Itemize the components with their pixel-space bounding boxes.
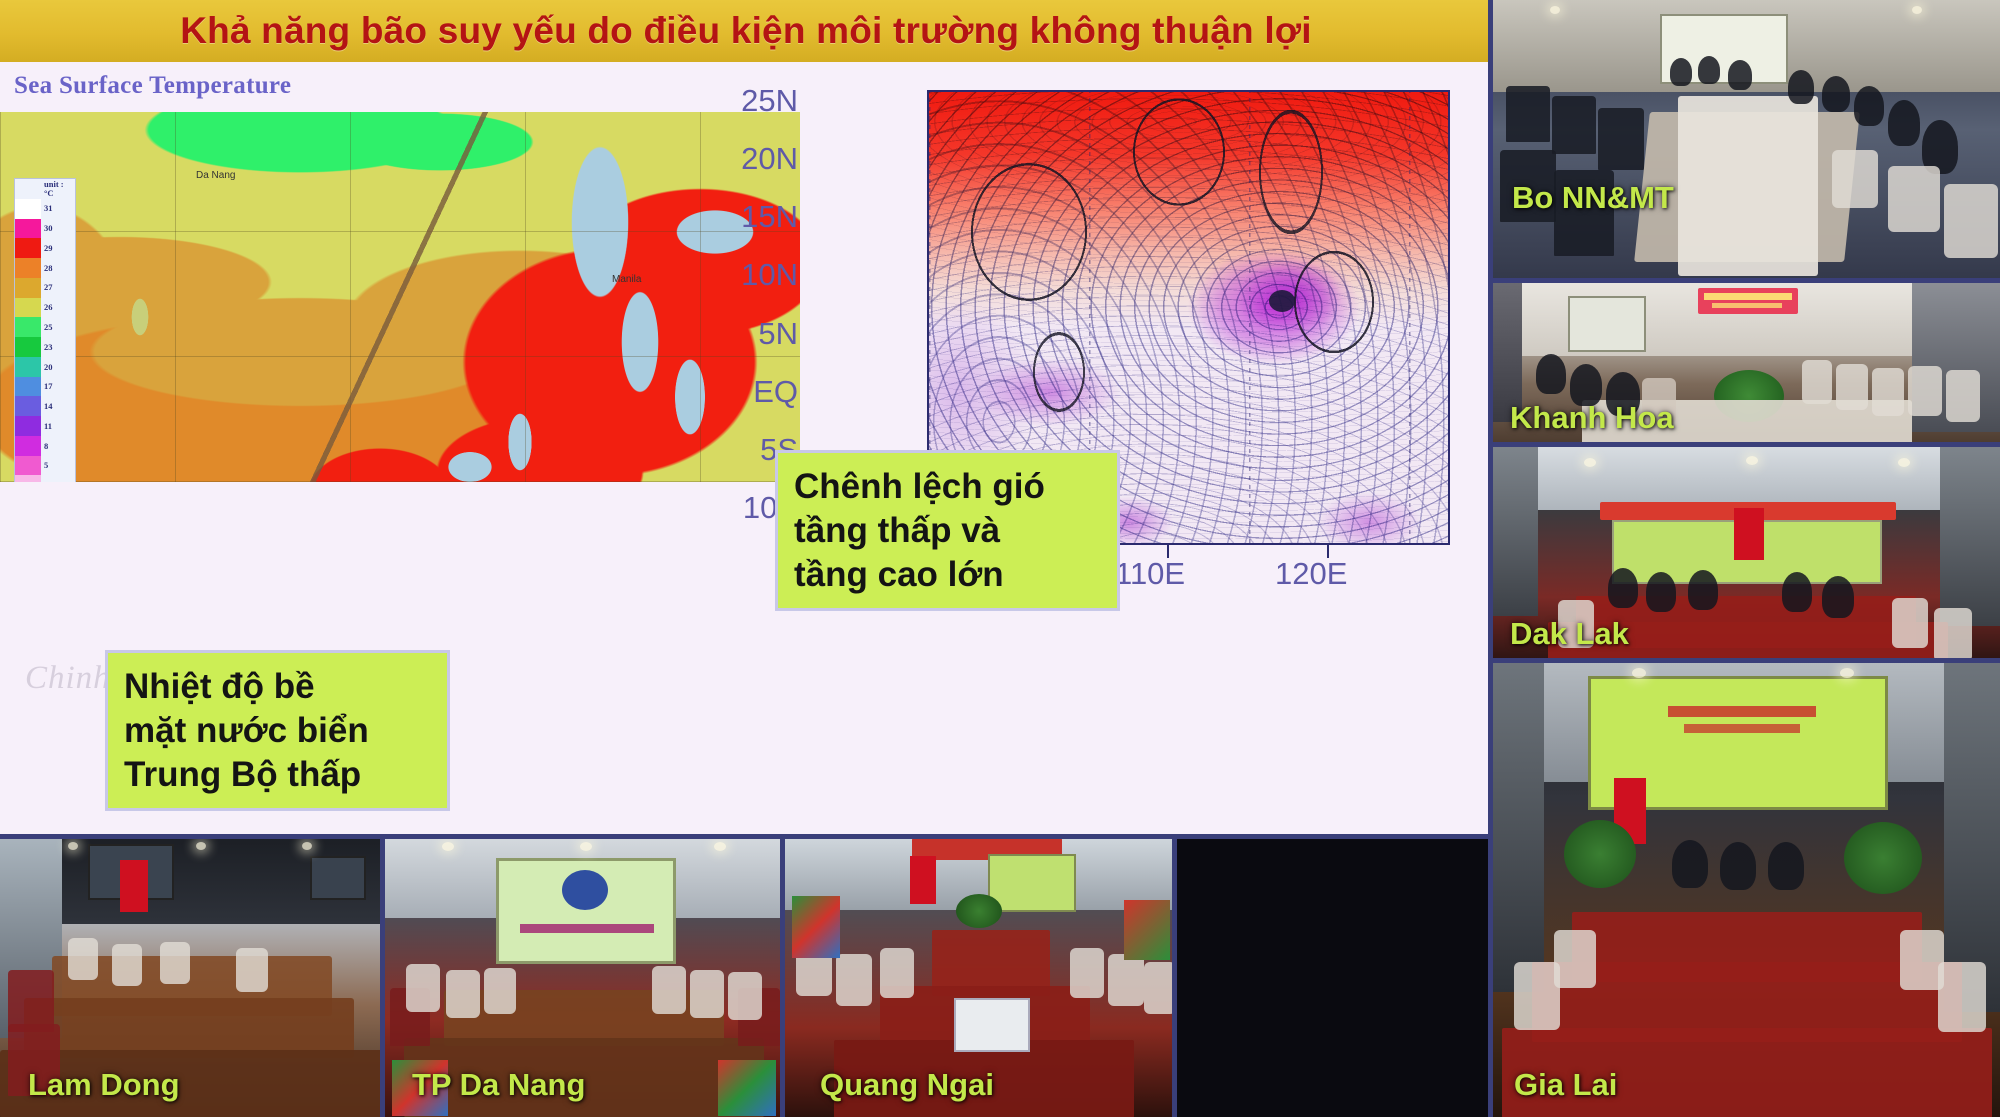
shear-ytick-5N: 5N <box>668 316 798 352</box>
slide-title: Khả năng bão suy yếu do điều kiện môi tr… <box>180 10 1312 52</box>
callout-sst-line-2: mặt nước biển <box>124 709 431 753</box>
shear-ytick-25N: 25N <box>668 83 798 119</box>
video-tile-khanh-hoa[interactable]: Khanh Hoa <box>1492 282 2000 446</box>
callout-sst-line-3: Trung Bộ thấp <box>124 753 431 797</box>
sst-legend-label: 23 <box>41 337 75 357</box>
slide-title-bar: Khả năng bão suy yếu do điều kiện môi tr… <box>0 0 1492 62</box>
sst-legend-swatch <box>15 396 41 416</box>
sst-legend-label: 27 <box>41 278 75 298</box>
sst-legend-label: 20 <box>41 357 75 377</box>
video-tile-gia-lai[interactable]: Gia Lai <box>1492 662 2000 1117</box>
sst-legend-swatch <box>15 317 41 337</box>
sst-legend-label: 30 <box>41 219 75 239</box>
sst-legend-swatches <box>15 179 41 482</box>
sst-legend-swatch <box>15 238 41 258</box>
sst-legend-unit: unit : °C <box>41 179 75 199</box>
tile-label-dak-lak: Dak Lak <box>1510 616 1629 652</box>
video-tile-tp-da-nang[interactable]: TP Da Nang <box>384 838 784 1117</box>
callout-sst: Nhiệt độ bề mặt nước biển Trung Bộ thấp <box>105 650 450 811</box>
callout-shear-line-1: Chênh lệch gió <box>794 465 1101 509</box>
sst-legend-label: 11 <box>41 416 75 436</box>
khanh-hoa-banner <box>1698 288 1798 314</box>
video-tile-dak-lak[interactable]: Dak Lak <box>1492 446 2000 662</box>
sst-legend-swatch <box>15 416 41 436</box>
shear-ytick-10N: 10N <box>668 257 798 293</box>
video-tile-lam-dong[interactable]: Lam Dong <box>0 838 384 1117</box>
sst-legend-label: 14 <box>41 396 75 416</box>
sst-legend-swatch <box>15 337 41 357</box>
sst-legend: unit : °C313029282726252320171411852Ice <box>14 178 76 482</box>
sst-legend-swatch <box>15 456 41 476</box>
tile-separator-lam-dong-da-nang <box>380 838 385 1117</box>
video-tile-bo-nn-mt[interactable]: Bo NN&MT <box>1492 0 2000 282</box>
tile-separator-bo-khanh <box>1492 278 2000 283</box>
sst-legend-labels: unit : °C313029282726252320171411852Ice <box>41 179 75 482</box>
tile-separator-horizontal-bottom <box>0 834 1492 839</box>
shear-ytick-EQ: EQ <box>668 374 798 410</box>
sst-legend-label: 17 <box>41 377 75 397</box>
sst-legend-swatch <box>15 199 41 219</box>
videoconference-screen: Khả năng bão suy yếu do điều kiện môi tr… <box>0 0 2000 1117</box>
sst-legend-label: 26 <box>41 298 75 318</box>
shear-ytick-20N: 20N <box>668 141 798 177</box>
tile-label-khanh-hoa: Khanh Hoa <box>1510 400 1674 436</box>
sst-legend-label: 2 <box>41 475 75 482</box>
sst-legend-label: 8 <box>41 436 75 456</box>
callout-shear: Chênh lệch gió tầng thấp và tầng cao lớn <box>775 450 1120 611</box>
tile-separator-dak-gia <box>1492 658 2000 663</box>
video-tile-quang-ngai[interactable]: Quang Ngai <box>784 838 1176 1117</box>
tile-label-gia-lai: Gia Lai <box>1514 1067 1617 1103</box>
sst-legend-swatch <box>15 377 41 397</box>
sst-legend-swatch <box>15 357 41 377</box>
tile-separator-vertical-main <box>1488 0 1493 1117</box>
sst-legend-swatch <box>15 219 41 239</box>
presentation-slide: Khả năng bão suy yếu do điều kiện môi tr… <box>0 0 1492 838</box>
sst-legend-label: 5 <box>41 456 75 476</box>
tile-label-lam-dong: Lam Dong <box>28 1067 180 1103</box>
shear-ytick-15N: 15N <box>668 199 798 235</box>
sst-legend-swatch <box>15 258 41 278</box>
sst-legend-swatch <box>15 475 41 482</box>
callout-sst-line-1: Nhiệt độ bề <box>124 665 431 709</box>
sst-legend-label: 25 <box>41 317 75 337</box>
shear-storm-center <box>1269 290 1295 312</box>
tile-separator-khanh-dak <box>1492 442 2000 447</box>
shear-xtick-120E: 120E <box>1275 556 1347 592</box>
tile-separator-da-nang-quang-ngai <box>780 838 785 1117</box>
sst-city-label-manila: Manila <box>612 274 641 285</box>
callout-shear-line-3: tầng cao lớn <box>794 553 1101 597</box>
tile-label-bo-nn-mt: Bo NN&MT <box>1512 180 1674 216</box>
sst-legend-label: 31 <box>41 199 75 219</box>
sst-legend-swatch <box>15 278 41 298</box>
sst-legend-swatch <box>15 298 41 318</box>
sst-legend-swatch <box>15 436 41 456</box>
sst-city-label-da-nang: Da Nang <box>196 170 235 181</box>
tile-separator-quang-ngai-gia-lai <box>1172 838 1177 1117</box>
tile-label-tp-da-nang: TP Da Nang <box>412 1067 585 1103</box>
tile-label-quang-ngai: Quang Ngai <box>820 1067 994 1103</box>
callout-shear-line-2: tầng thấp và <box>794 509 1101 553</box>
sst-legend-label: 28 <box>41 258 75 278</box>
sst-caption: Sea Surface Temperature <box>14 72 291 100</box>
sst-legend-label: 29 <box>41 238 75 258</box>
shear-xtick-110E: 110E <box>1115 556 1185 592</box>
